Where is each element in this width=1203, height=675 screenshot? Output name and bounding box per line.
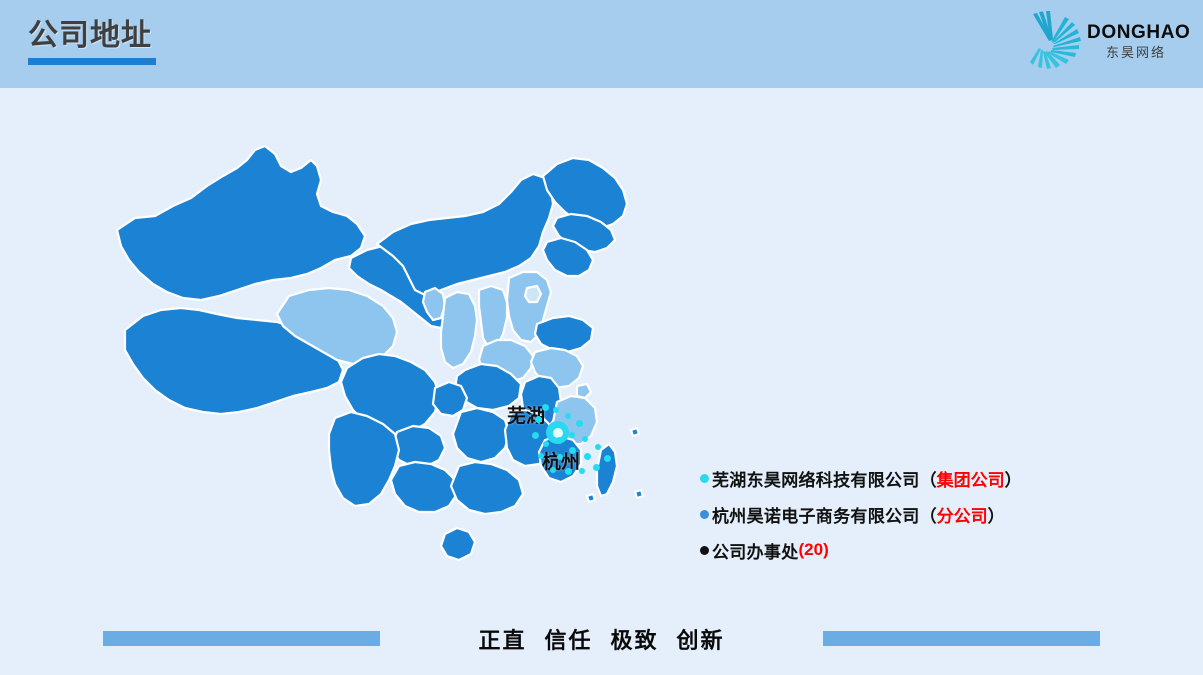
legend-item-offices: 公司办事处 (20) bbox=[700, 532, 1120, 568]
map-marker-office[interactable] bbox=[579, 468, 585, 474]
province-beijing bbox=[525, 286, 541, 302]
map-marker-office[interactable] bbox=[576, 420, 583, 427]
logo-wordmark: DONGHAO 东昊网络 bbox=[1087, 22, 1185, 61]
province-shanxi bbox=[479, 286, 507, 348]
legend-tag-open: （ bbox=[920, 471, 937, 490]
map-marker-office[interactable] bbox=[542, 404, 549, 411]
legend-tag-value: 20 bbox=[804, 540, 823, 559]
legend-tag-value: 集团公司 bbox=[937, 471, 1005, 490]
legend-item-tag: (20) bbox=[799, 540, 829, 560]
footer-slogan-word: 极致 bbox=[611, 628, 659, 653]
brand-logo: DONGHAO 东昊网络 bbox=[1019, 8, 1185, 74]
map-marker-office[interactable] bbox=[557, 454, 563, 460]
map-marker-office[interactable] bbox=[535, 416, 542, 423]
page-title: 公司地址 bbox=[28, 17, 156, 55]
legend-tag-open: （ bbox=[920, 507, 937, 526]
legend-bullet-icon bbox=[700, 546, 709, 555]
legend-item-tag: （分公司） bbox=[920, 502, 1005, 527]
footer-slogan-word: 信任 bbox=[544, 628, 592, 653]
province-xinjiang bbox=[117, 146, 365, 300]
legend-item-label: 杭州昊诺电子商务有限公司 bbox=[712, 502, 920, 527]
map-marker-office[interactable] bbox=[582, 436, 588, 442]
legend-item-label: 芜湖东昊网络科技有限公司 bbox=[712, 466, 920, 491]
title-underline bbox=[28, 58, 156, 65]
map-marker-office[interactable] bbox=[553, 407, 559, 413]
map-marker-office[interactable] bbox=[593, 464, 600, 471]
footer-slogan: 正直信任极致创新 bbox=[0, 623, 1203, 655]
legend-tag-close: ） bbox=[1005, 471, 1022, 490]
map-label-wuhu: 芜湖 bbox=[507, 401, 545, 428]
header-band: 公司地址 bbox=[0, 0, 1203, 88]
map-marker-office[interactable] bbox=[604, 455, 611, 462]
footer-slogan-word: 正直 bbox=[478, 628, 526, 653]
legend-tag-value: 分公司 bbox=[937, 507, 988, 526]
province-guangxi bbox=[391, 462, 457, 512]
map-marker-office[interactable] bbox=[565, 468, 572, 475]
map-marker-office[interactable] bbox=[538, 453, 544, 459]
map-marker-office[interactable] bbox=[569, 432, 575, 438]
slide-canvas: 公司地址 bbox=[0, 0, 1203, 675]
map-marker-office[interactable] bbox=[584, 453, 591, 460]
province-shanghai bbox=[577, 384, 591, 398]
legend-bullet-icon bbox=[700, 474, 709, 483]
logo-name-cn: 东昊网络 bbox=[1087, 44, 1185, 61]
province-taiwan bbox=[597, 444, 617, 496]
map-marker-office[interactable] bbox=[532, 432, 539, 439]
china-map: 芜湖 杭州 bbox=[95, 120, 695, 600]
province-shandong bbox=[535, 316, 593, 352]
legend-tag-close: ) bbox=[823, 540, 829, 559]
map-marker-office[interactable] bbox=[565, 413, 571, 419]
province-hainan bbox=[441, 528, 475, 560]
footer-slogan-word: 创新 bbox=[677, 628, 725, 653]
map-marker-office[interactable] bbox=[543, 441, 549, 447]
map-marker-office[interactable] bbox=[550, 467, 556, 473]
china-map-svg bbox=[95, 120, 695, 600]
legend-item-label: 公司办事处 bbox=[712, 538, 799, 563]
map-marker-office[interactable] bbox=[556, 437, 563, 444]
province-hunan bbox=[453, 408, 509, 462]
logo-name-en: DONGHAO bbox=[1087, 22, 1185, 44]
map-marker-office[interactable] bbox=[595, 444, 601, 450]
legend-item-group-company: 芜湖东昊网络科技有限公司 （集团公司） bbox=[700, 460, 1120, 496]
legend-bullet-icon bbox=[700, 510, 709, 519]
legend-tag-close: ） bbox=[988, 507, 1005, 526]
page-title-group: 公司地址 bbox=[28, 17, 156, 65]
map-marker-office[interactable] bbox=[569, 447, 576, 454]
legend-item-tag: （集团公司） bbox=[920, 466, 1022, 491]
feather-fan-logo-icon bbox=[1019, 8, 1089, 74]
province-shaanxi bbox=[441, 292, 477, 368]
province-guangdong bbox=[451, 462, 523, 514]
legend-item-branch-company: 杭州昊诺电子商务有限公司 （分公司） bbox=[700, 496, 1120, 532]
legend: 芜湖东昊网络科技有限公司 （集团公司） 杭州昊诺电子商务有限公司 （分公司） 公… bbox=[700, 460, 1120, 568]
